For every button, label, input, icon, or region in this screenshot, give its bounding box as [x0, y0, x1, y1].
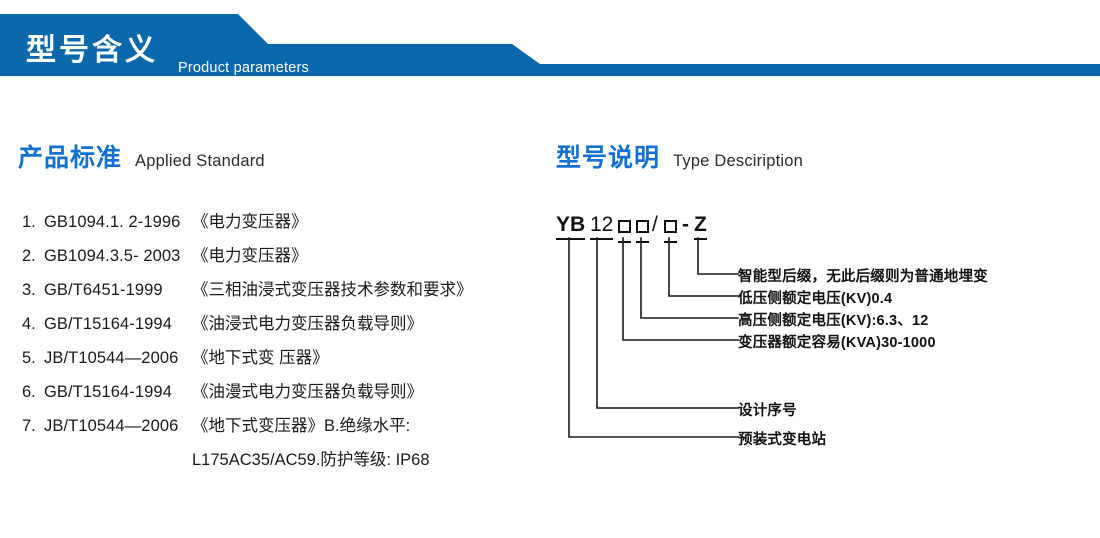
standard-item: 3. GB/T6451-1999 《三相油浸式变压器技术参数和要求》 [22, 276, 542, 310]
type-code-label-station: 预装式变电站 [738, 428, 826, 449]
standard-index: 1. [22, 213, 44, 232]
type-code-label-suffix: 智能型后缀，无此后缀则为普通地埋变 [738, 265, 988, 286]
standard-index: 7. [22, 417, 44, 436]
page-banner: 型号含义 Product parameters [0, 14, 1100, 76]
standard-code: GB1094.3.5- 2003 [44, 247, 192, 266]
standard-item: 7. JB/T10544—2006 《地下式变压器》B.绝缘水平: [22, 412, 542, 446]
leader-lines [548, 200, 1100, 460]
standard-item: 6. GB/T15164-1994 《油漫式电力变压器负载导则》 [22, 378, 542, 412]
type-code-label-hv: 高压侧额定电压(KV):6.3、12 [738, 309, 929, 330]
section-title-cn-type: 型号说明 [556, 144, 660, 172]
standard-name: 《地下式变压器》B.绝缘水平: [192, 412, 410, 436]
standard-name: L175AC35/AC59.防护等级: IP68 [192, 446, 430, 470]
section-heading-type-description: 型号说明Type Desciription [556, 138, 803, 174]
standard-index: 6. [22, 383, 44, 402]
section-heading-applied-standard: 产品标准Applied Standard [18, 138, 265, 174]
standard-index: 2. [22, 247, 44, 266]
type-code-label-capacity: 变压器额定容易(KVA)30-1000 [738, 331, 936, 352]
standard-code: JB/T10544—2006 [44, 417, 192, 436]
type-code-label-lv: 低压侧额定电压(KV)0.4 [738, 287, 892, 308]
standard-item: 2. GB1094.3.5- 2003 《电力变压器》 [22, 242, 542, 276]
type-code-label-design: 设计序号 [738, 399, 797, 420]
section-title-cn-standard: 产品标准 [18, 144, 122, 172]
standard-index: 5. [22, 349, 44, 368]
standard-name: 《油漫式电力变压器负载导则》 [192, 378, 423, 402]
standard-name: 《油浸式电力变压器负载导则》 [192, 310, 423, 334]
banner-title-cn: 型号含义 [26, 34, 158, 68]
banner-title-en: Product parameters [178, 60, 309, 76]
type-code-diagram: YB 12 / - Z [548, 200, 1100, 460]
standard-item: 1. GB1094.1. 2-1996 《电力变压器》 [22, 208, 542, 242]
standard-name: 《电力变压器》 [192, 208, 308, 232]
standard-code: GB1094.1. 2-1996 [44, 213, 192, 232]
standard-code: JB/T10544—2006 [44, 349, 192, 368]
applied-standard-list: 1. GB1094.1. 2-1996 《电力变压器》 2. GB1094.3.… [22, 208, 542, 480]
standard-name: 《电力变压器》 [192, 242, 308, 266]
standard-index: 3. [22, 281, 44, 300]
standard-index: 4. [22, 315, 44, 334]
standard-item-continuation: L175AC35/AC59.防护等级: IP68 [22, 446, 542, 480]
banner-shape [0, 14, 1100, 76]
standard-code: GB/T6451-1999 [44, 281, 192, 300]
standard-name: 《地下式变 压器》 [192, 344, 329, 368]
section-title-en-type: Type Desciription [673, 152, 803, 170]
standard-code: GB/T15164-1994 [44, 383, 192, 402]
standard-code: GB/T15164-1994 [44, 315, 192, 334]
standard-item: 5. JB/T10544—2006 《地下式变 压器》 [22, 344, 542, 378]
section-title-en-standard: Applied Standard [135, 152, 265, 170]
standard-name: 《三相油浸式变压器技术参数和要求》 [192, 276, 473, 300]
standard-item: 4. GB/T15164-1994 《油浸式电力变压器负载导则》 [22, 310, 542, 344]
